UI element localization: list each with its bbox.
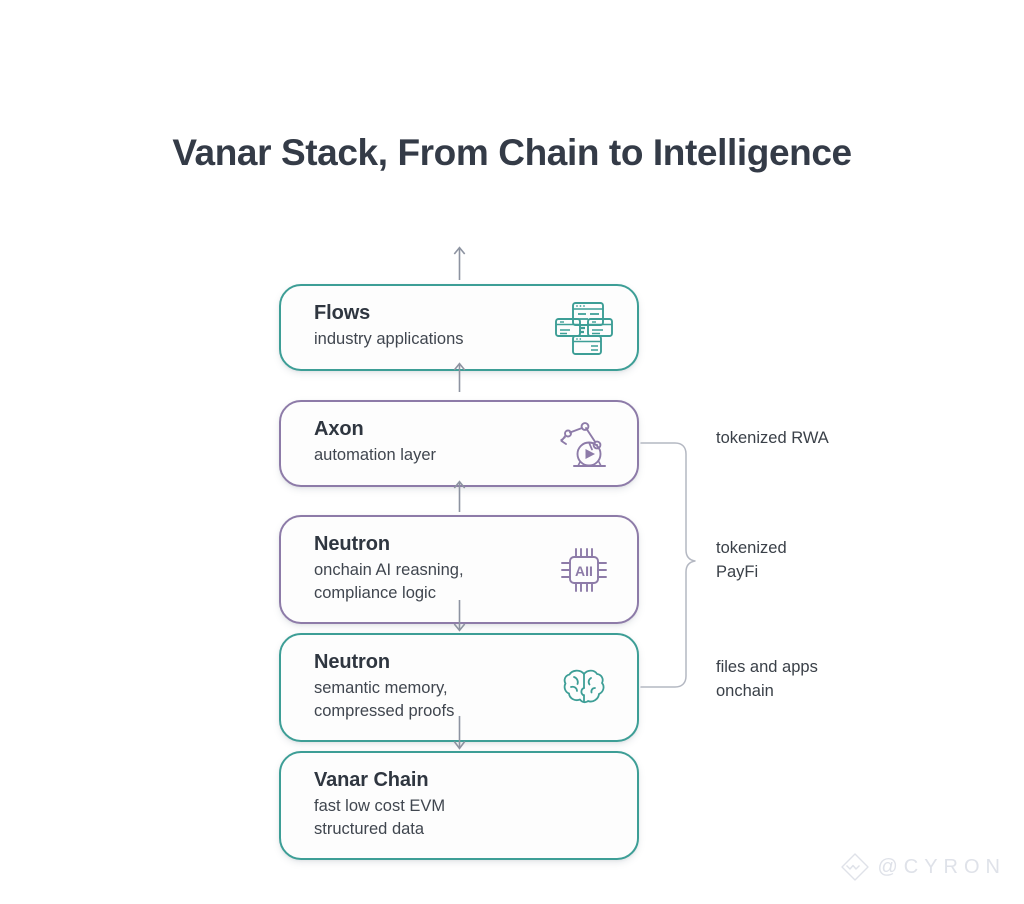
- side-label-payfi: tokenized PayFi: [716, 537, 787, 585]
- diamond-logo-icon: [840, 852, 870, 882]
- card-neutron-ai-subtitle: onchain AI reasning, compliance logic: [314, 559, 537, 607]
- card-axon-subtitle: automation layer: [314, 444, 537, 468]
- card-neutron-mem-title: Neutron: [314, 650, 537, 676]
- card-vanar-chain-subtitle: fast low cost EVM structured data: [314, 795, 537, 843]
- app-windows-icon: [553, 299, 615, 357]
- card-neutron-ai-title: Neutron: [314, 532, 537, 558]
- card-vanar-chain-body: Vanar Chain fast low cost EVM structured…: [281, 753, 637, 858]
- card-vanar-chain[interactable]: Vanar Chain fast low cost EVM structured…: [279, 751, 639, 860]
- ai-chip-icon-label: AII: [575, 563, 593, 579]
- arrow-up-axon: [453, 480, 466, 512]
- card-axon[interactable]: Axon automation layer: [279, 400, 639, 487]
- page-title: Vanar Stack, From Chain to Intelligence: [0, 132, 1024, 174]
- layer-stack: Flows industry applications: [279, 248, 641, 848]
- card-flows[interactable]: Flows industry applications: [279, 284, 639, 371]
- brain-icon: [553, 659, 615, 717]
- card-vanar-chain-title: Vanar Chain: [314, 768, 537, 794]
- card-flows-body: Flows industry applications: [281, 286, 637, 369]
- card-neutron-mem-subtitle: semantic memory, compressed proofs: [314, 677, 537, 725]
- side-label-rwa: tokenized RWA: [716, 427, 829, 451]
- watermark-text: @CYRON: [877, 856, 1006, 879]
- brace-connector-icon: [641, 432, 701, 702]
- card-flows-subtitle: industry applications: [314, 328, 537, 352]
- card-axon-title: Axon: [314, 417, 537, 443]
- robot-arm-icon: [553, 415, 615, 473]
- ai-chip-icon: AII: [553, 541, 615, 599]
- arrow-up-flows: [453, 362, 466, 392]
- side-label-files: files and apps onchain: [716, 656, 818, 704]
- card-flows-title: Flows: [314, 301, 537, 327]
- card-axon-body: Axon automation layer: [281, 402, 637, 485]
- diagram-root: Vanar Stack, From Chain to Intelligence …: [0, 0, 1024, 904]
- watermark: @CYRON: [840, 852, 1006, 882]
- arrow-down-bottom: [453, 716, 466, 750]
- arrow-up-top: [453, 246, 466, 280]
- arrow-down-neutron: [453, 600, 466, 632]
